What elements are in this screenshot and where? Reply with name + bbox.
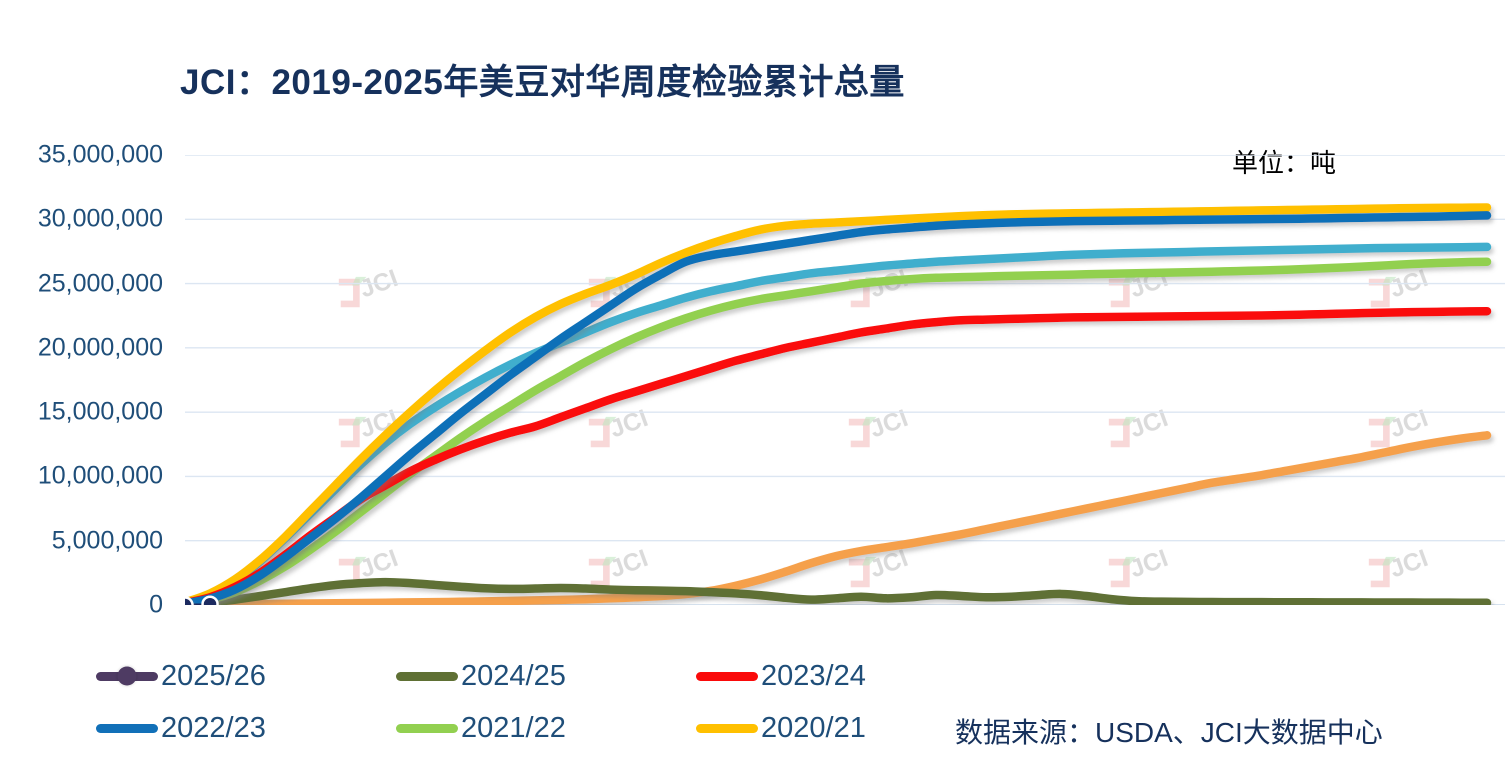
legend: 2025/262024/252023/242022/232021/222020/…	[96, 652, 956, 752]
jci-watermark: JCI	[1109, 545, 1172, 587]
legend-label: 2025/26	[161, 660, 266, 693]
jci-watermark: JCI	[1369, 265, 1432, 307]
legend-label: 2020/21	[761, 712, 866, 745]
line-chart-svg: JCIJCIJCIJCIJCIJCIJCIJCIJCIJCIJCIJCIJCIJ…	[185, 155, 1505, 605]
legend-swatch-icon	[96, 672, 158, 681]
y-axis-tick-label: 30,000,000	[38, 205, 163, 234]
y-axis-tick-label: 0	[149, 591, 163, 620]
legend-row: 2025/262024/252023/24	[96, 652, 956, 700]
y-axis-tick-label: 15,000,000	[38, 398, 163, 427]
legend-marker-dot-icon	[118, 667, 137, 686]
legend-item-2023-24[interactable]: 2023/24	[696, 652, 866, 700]
svg-text:JCI: JCI	[1386, 545, 1431, 584]
legend-label: 2024/25	[461, 660, 566, 693]
legend-item-2025-26[interactable]: 2025/26	[96, 652, 266, 700]
legend-swatch-icon	[396, 672, 458, 681]
jci-watermark: JCI	[849, 405, 912, 447]
y-axis: 05,000,00010,000,00015,000,00020,000,000…	[0, 155, 175, 605]
legend-swatch-icon	[696, 672, 758, 681]
jci-watermark: JCI	[1109, 405, 1172, 447]
y-axis-tick-label: 25,000,000	[38, 269, 163, 298]
legend-swatch-icon	[696, 724, 758, 733]
svg-text:JCI: JCI	[1126, 545, 1171, 584]
plot-area: JCIJCIJCIJCIJCIJCIJCIJCIJCIJCIJCIJCIJCIJ…	[185, 155, 1505, 605]
legend-item-2024-25[interactable]: 2024/25	[396, 652, 566, 700]
jci-watermark: JCI	[1369, 545, 1432, 587]
svg-text:JCI: JCI	[1386, 405, 1431, 444]
legend-swatch-icon	[96, 724, 158, 733]
svg-text:JCI: JCI	[866, 405, 911, 444]
y-axis-tick-label: 10,000,000	[38, 462, 163, 491]
legend-label: 2022/23	[161, 712, 266, 745]
svg-text:JCI: JCI	[356, 545, 401, 584]
page-title: JCI：2019-2025年美豆对华周度检验累计总量	[180, 54, 905, 105]
legend-label: 2023/24	[761, 660, 866, 693]
svg-text:JCI: JCI	[1126, 405, 1171, 444]
legend-item-2020-21[interactable]: 2020/21	[696, 704, 866, 752]
source-note: 数据来源：USDA、JCI大数据中心	[955, 711, 1383, 751]
data-point-marker	[203, 597, 218, 605]
svg-text:JCI: JCI	[606, 545, 651, 584]
legend-row: 2022/232021/222020/21	[96, 704, 956, 752]
y-axis-tick-label: 5,000,000	[52, 526, 163, 555]
legend-item-2021-22[interactable]: 2021/22	[396, 704, 566, 752]
svg-text:JCI: JCI	[606, 405, 651, 444]
legend-swatch-icon	[396, 724, 458, 733]
legend-label: 2021/22	[461, 712, 566, 745]
chart-page: JCI：2019-2025年美豆对华周度检验累计总量 单位：吨 05,000,0…	[0, 0, 1510, 767]
jci-watermark: JCI	[339, 265, 402, 307]
y-axis-tick-label: 20,000,000	[38, 333, 163, 362]
jci-watermark: JCI	[589, 545, 652, 587]
y-axis-tick-label: 35,000,000	[38, 141, 163, 170]
jci-watermark: JCI	[589, 405, 652, 447]
legend-item-2022-23[interactable]: 2022/23	[96, 704, 266, 752]
